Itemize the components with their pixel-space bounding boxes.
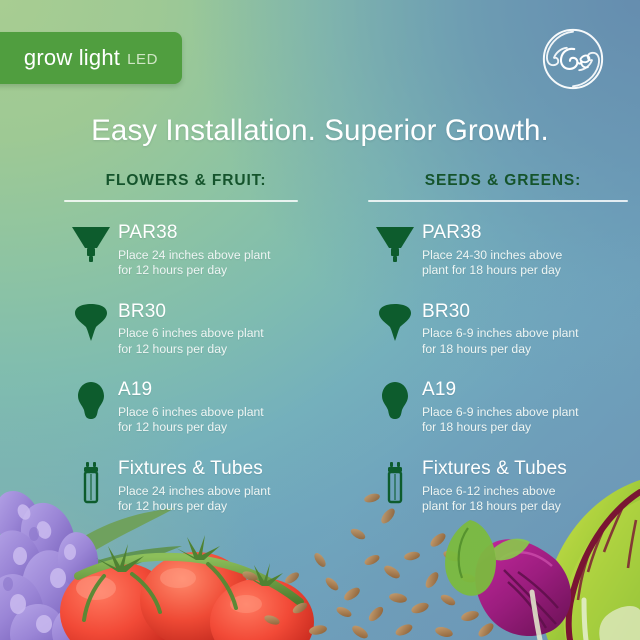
bulb-name: Fixtures & Tubes — [422, 458, 628, 480]
column-divider — [368, 200, 628, 202]
poster-canvas: grow light LED Easy Installation. Superi… — [0, 0, 640, 640]
badge-title: grow light — [24, 45, 120, 71]
grow-light-badge: grow light LED — [0, 32, 182, 84]
bulb-desc-line1: Place 6 inches above plant — [118, 405, 264, 419]
bulb-desc-line1: Place 24 inches above plant — [118, 248, 270, 262]
fluorescent-tube-icon — [64, 458, 118, 504]
bulb-text: PAR38 Place 24-30 inches above plant for… — [422, 222, 628, 279]
bulb-desc: Place 24-30 inches above plant for 18 ho… — [422, 248, 628, 279]
bulb-text: PAR38 Place 24 inches above plant for 12… — [118, 222, 298, 279]
bulb-desc-line2: for 12 hours per day — [118, 420, 227, 434]
bulb-name: PAR38 — [422, 222, 628, 244]
bulb-row: BR30 Place 6 inches above plant for 12 h… — [64, 301, 298, 358]
bulb-text: Fixtures & Tubes Place 6-12 inches above… — [422, 458, 628, 515]
bulb-desc-line2: for 18 hours per day — [422, 342, 531, 356]
br30-reflector-bulb-icon — [368, 301, 422, 343]
a19-bulb-icon — [368, 379, 422, 421]
bulb-desc-line2: for 12 hours per day — [118, 342, 227, 356]
column-flowers-fruit: FLOWERS & FRUIT: PAR38 Place 24 inches a… — [0, 172, 320, 514]
bulb-desc: Place 6-9 inches above plant for 18 hour… — [422, 405, 628, 436]
a19-bulb-icon — [64, 379, 118, 421]
bulb-text: BR30 Place 6-9 inches above plant for 18… — [422, 301, 628, 358]
bulb-desc-line1: Place 6-9 inches above plant — [422, 326, 579, 340]
bulb-name: BR30 — [118, 301, 298, 323]
bulb-desc-line1: Place 24-30 inches above — [422, 248, 562, 262]
bulb-desc: Place 6 inches above plant for 12 hours … — [118, 326, 298, 357]
bulb-desc-line1: Place 6-9 inches above plant — [422, 405, 579, 419]
bulb-desc: Place 24 inches above plant for 12 hours… — [118, 484, 298, 515]
bulb-desc-line1: Place 6 inches above plant — [118, 326, 264, 340]
bulb-text: Fixtures & Tubes Place 24 inches above p… — [118, 458, 298, 515]
bulb-desc-line2: plant for 18 hours per day — [422, 499, 561, 513]
bulb-name: A19 — [422, 379, 628, 401]
bulb-desc-line2: for 18 hours per day — [422, 420, 531, 434]
badge-subtitle: LED — [127, 51, 158, 68]
recommendation-columns: FLOWERS & FRUIT: PAR38 Place 24 inches a… — [0, 172, 640, 514]
fluorescent-tube-icon — [368, 458, 422, 504]
column-seeds-greens: SEEDS & GREENS: PAR38 Place 24-30 inches… — [320, 172, 640, 514]
bulb-row: A19 Place 6-9 inches above plant for 18 … — [368, 379, 628, 436]
bulb-desc-line2: for 12 hours per day — [118, 499, 227, 513]
bulb-desc: Place 24 inches above plant for 12 hours… — [118, 248, 298, 279]
bulb-desc: Place 6-9 inches above plant for 18 hour… — [422, 326, 628, 357]
bulb-name: Fixtures & Tubes — [118, 458, 298, 480]
bulb-name: PAR38 — [118, 222, 298, 244]
bulb-desc: Place 6 inches above plant for 12 hours … — [118, 405, 298, 436]
bulb-row: Fixtures & Tubes Place 6-12 inches above… — [368, 458, 628, 515]
bulb-name: A19 — [118, 379, 298, 401]
bulb-desc: Place 6-12 inches above plant for 18 hou… — [422, 484, 628, 515]
bulb-text: BR30 Place 6 inches above plant for 12 h… — [118, 301, 298, 358]
bulb-row: PAR38 Place 24-30 inches above plant for… — [368, 222, 628, 279]
ge-monogram-icon — [542, 28, 604, 90]
par38-flood-bulb-icon — [64, 222, 118, 264]
bulb-desc-line1: Place 24 inches above plant — [118, 484, 270, 498]
column-divider — [64, 200, 298, 202]
bulb-desc-line2: for 12 hours per day — [118, 263, 227, 277]
bulb-row: BR30 Place 6-9 inches above plant for 18… — [368, 301, 628, 358]
bulb-row: Fixtures & Tubes Place 24 inches above p… — [64, 458, 298, 515]
bulb-text: A19 Place 6-9 inches above plant for 18 … — [422, 379, 628, 436]
column-title: FLOWERS & FRUIT: — [64, 172, 298, 190]
bulb-text: A19 Place 6 inches above plant for 12 ho… — [118, 379, 298, 436]
bulb-name: BR30 — [422, 301, 628, 323]
bulb-desc-line2: plant for 18 hours per day — [422, 263, 561, 277]
br30-reflector-bulb-icon — [64, 301, 118, 343]
column-title: SEEDS & GREENS: — [368, 172, 628, 190]
par38-flood-bulb-icon — [368, 222, 422, 264]
bulb-row: PAR38 Place 24 inches above plant for 12… — [64, 222, 298, 279]
bulb-desc-line1: Place 6-12 inches above — [422, 484, 555, 498]
bulb-row: A19 Place 6 inches above plant for 12 ho… — [64, 379, 298, 436]
page-headline: Easy Installation. Superior Growth. — [0, 114, 640, 148]
